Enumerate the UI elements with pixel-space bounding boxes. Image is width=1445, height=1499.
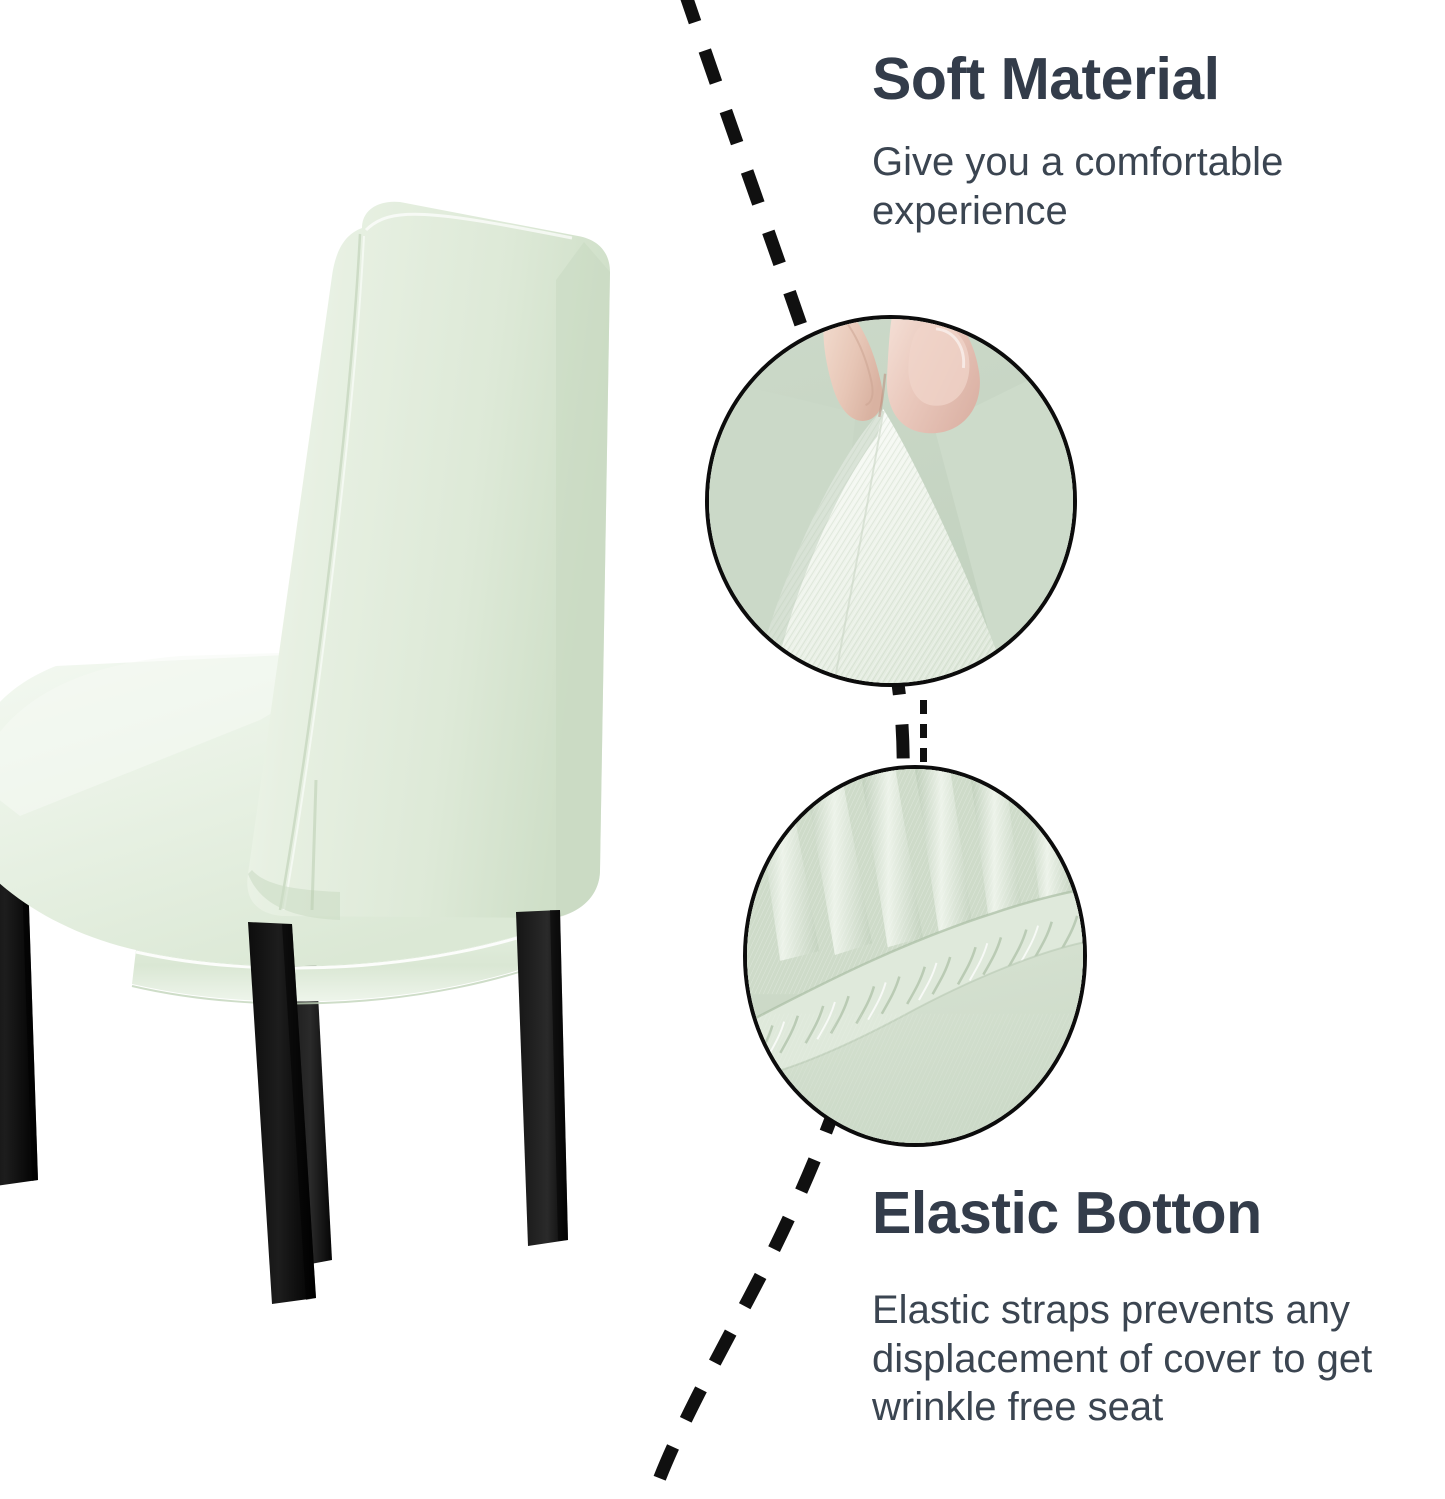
fabric-pinch-closeup-icon [709, 319, 1073, 683]
feature-title-elastic-botton: Elastic Botton [872, 1182, 1432, 1246]
feature-description-soft-material: Give you a comfortable experience [872, 138, 1412, 236]
chair-illustration [0, 180, 680, 1340]
feature-block-soft-material: Soft Material Give you a comfortable exp… [872, 48, 1412, 235]
detail-circle-soft-material [705, 315, 1077, 687]
chair-back-cover [247, 202, 610, 920]
infographic-canvas: Soft Material Give you a comfortable exp… [0, 0, 1445, 1499]
circle-connector-dashes [920, 700, 927, 762]
detail-circle-elastic-botton [743, 765, 1087, 1147]
chair-leg-rear-right [516, 910, 568, 1246]
feature-title-soft-material: Soft Material [872, 48, 1412, 112]
feature-block-elastic-botton: Elastic Botton Elastic straps prevents a… [872, 1182, 1432, 1432]
elastic-hem-closeup-icon [747, 769, 1083, 1143]
feature-description-elastic-botton: Elastic straps prevents any displacement… [872, 1286, 1432, 1432]
